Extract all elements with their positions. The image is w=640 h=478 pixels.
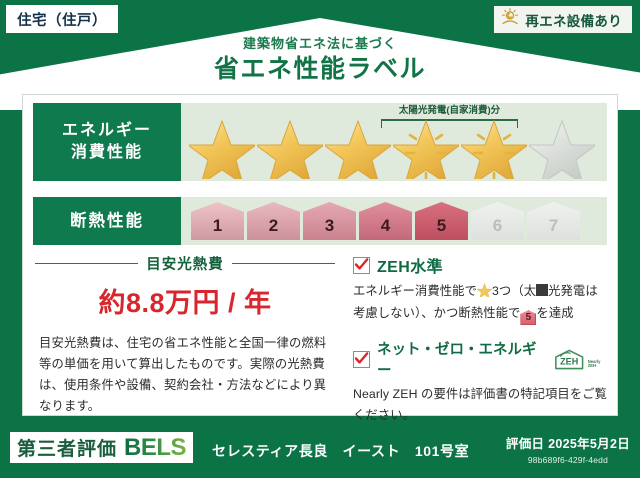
insulation-scale-area: 1234567 (181, 197, 607, 245)
cost-amount: 約8.8万円 / 年 (35, 281, 335, 320)
svg-text:ZEH: ZEH (560, 357, 578, 367)
star-4-filled-solar (393, 115, 459, 179)
star-6-empty (529, 115, 595, 179)
zeh-body-pre: エネルギー消費性能で (353, 284, 477, 298)
evaluation-date: 評価日 2025年5月2日 (506, 433, 630, 452)
cost-note: 目安光熱費は、住宅の省エネ性能と全国一律の燃料等の単価を用いて算出したものです。… (35, 333, 335, 418)
insulation-level-label: 6 (493, 216, 502, 236)
zeh-standard-checkbox (353, 257, 370, 274)
insulation-level-label: 5 (437, 216, 446, 236)
zeh-body-end: を達成 (536, 306, 573, 320)
zeh-body-mid: 3つ（太 (492, 284, 536, 298)
bels-jp-label: 第三者評価 (17, 434, 117, 461)
insulation-performance-label: 断熱性能 (33, 197, 181, 245)
inline-star-icon (477, 282, 492, 303)
bels-logo: 第三者評価 BELS (10, 432, 193, 463)
insulation-level-label: 7 (549, 216, 558, 236)
zeh-netzero-body: Nearly ZEH の要件は評価書の特記項目をご覧ください。 (353, 384, 609, 425)
evaluation-id: 98b689f6-429f-4edd (506, 455, 630, 465)
evaluation-info: 評価日 2025年5月2日 98b689f6-429f-4edd (506, 433, 630, 465)
energy-label-line1: エネルギー (62, 120, 152, 142)
zeh-standard-title: ZEH水準 (377, 253, 443, 277)
energy-star-area: 太陽光発電(自家消費)分 (181, 103, 607, 181)
insulation-level-3-achieved: 3 (303, 202, 356, 240)
star-1-filled (189, 115, 255, 179)
zeh-house-logo: ZEH Nearly ZEH (553, 348, 609, 371)
insulation-level-label: 1 (213, 216, 222, 236)
cost-heading: 目安光熱費 (35, 253, 335, 274)
building-name: セレスティア長良 イースト 101号室 (212, 441, 469, 461)
insulation-level-4-achieved: 4 (359, 202, 412, 240)
zeh-column: ZEH水準 エネルギー消費性能で 3つ（太光発電は考慮しない）、かつ断熱性能で5… (353, 253, 609, 438)
star-3-filled (325, 115, 391, 179)
label-card: エネルギー 消費性能 太陽光発電(自家消費)分 (22, 94, 618, 416)
insulation-level-7-inactive: 7 (527, 202, 580, 240)
insulation-performance-row: 断熱性能 1234567 (23, 197, 617, 245)
energy-label-line2: 消費性能 (71, 142, 143, 164)
insulation-level-1-achieved: 1 (191, 202, 244, 240)
zeh-netzero-checkbox (353, 351, 370, 368)
cost-heading-label: 目安光熱費 (146, 253, 224, 274)
footer: 第三者評価 BELS セレスティア長良 イースト 101号室 評価日 2025年… (0, 420, 640, 478)
title-main: 省エネ性能ラベル (0, 55, 640, 84)
insulation-scale: 1234567 (191, 202, 580, 240)
insulation-level-2-achieved: 2 (247, 202, 300, 240)
insulation-level-label: 3 (325, 216, 334, 236)
insulation-level-6-inactive: 6 (471, 202, 524, 240)
solar-bracket-label: 太陽光発電(自家消費)分 (381, 102, 518, 116)
zeh-netzero-title: ネット・ゼロ・エネルギー (377, 338, 543, 380)
zeh-netzero-block: ネット・ゼロ・エネルギー ZEH Nearly ZEH Nearly ZEH の… (353, 338, 609, 425)
insulation-level-label: 2 (269, 216, 278, 236)
energy-performance-row: エネルギー 消費性能 太陽光発電(自家消費)分 (23, 103, 617, 181)
zeh-standard-body: エネルギー消費性能で 3つ（太光発電は考慮しない）、かつ断熱性能で5を達成 (353, 281, 609, 325)
bels-en-label: BELS (124, 434, 186, 462)
star-rating (189, 115, 595, 179)
inline-level-chip: 5 (520, 310, 536, 325)
title-subtitle: 建築物省エネ法に基づく (0, 36, 640, 52)
star-2-filled (257, 115, 323, 179)
energy-cost-column: 目安光熱費 約8.8万円 / 年 目安光熱費は、住宅の省エネ性能と全国一律の燃料… (35, 253, 335, 418)
insulation-level-5-achieved: 5 (415, 202, 468, 240)
insulation-level-label: 4 (381, 216, 390, 236)
zeh-logo-sub: Nearly ZEH (588, 360, 609, 371)
obscured-character (536, 284, 548, 296)
page-title: 建築物省エネ法に基づく 省エネ性能ラベル (0, 36, 640, 83)
star-5-filled-solar (461, 115, 527, 179)
energy-performance-label: エネルギー 消費性能 (33, 103, 181, 181)
zeh-standard-block: ZEH水準 エネルギー消費性能で 3つ（太光発電は考慮しない）、かつ断熱性能で5… (353, 253, 609, 325)
